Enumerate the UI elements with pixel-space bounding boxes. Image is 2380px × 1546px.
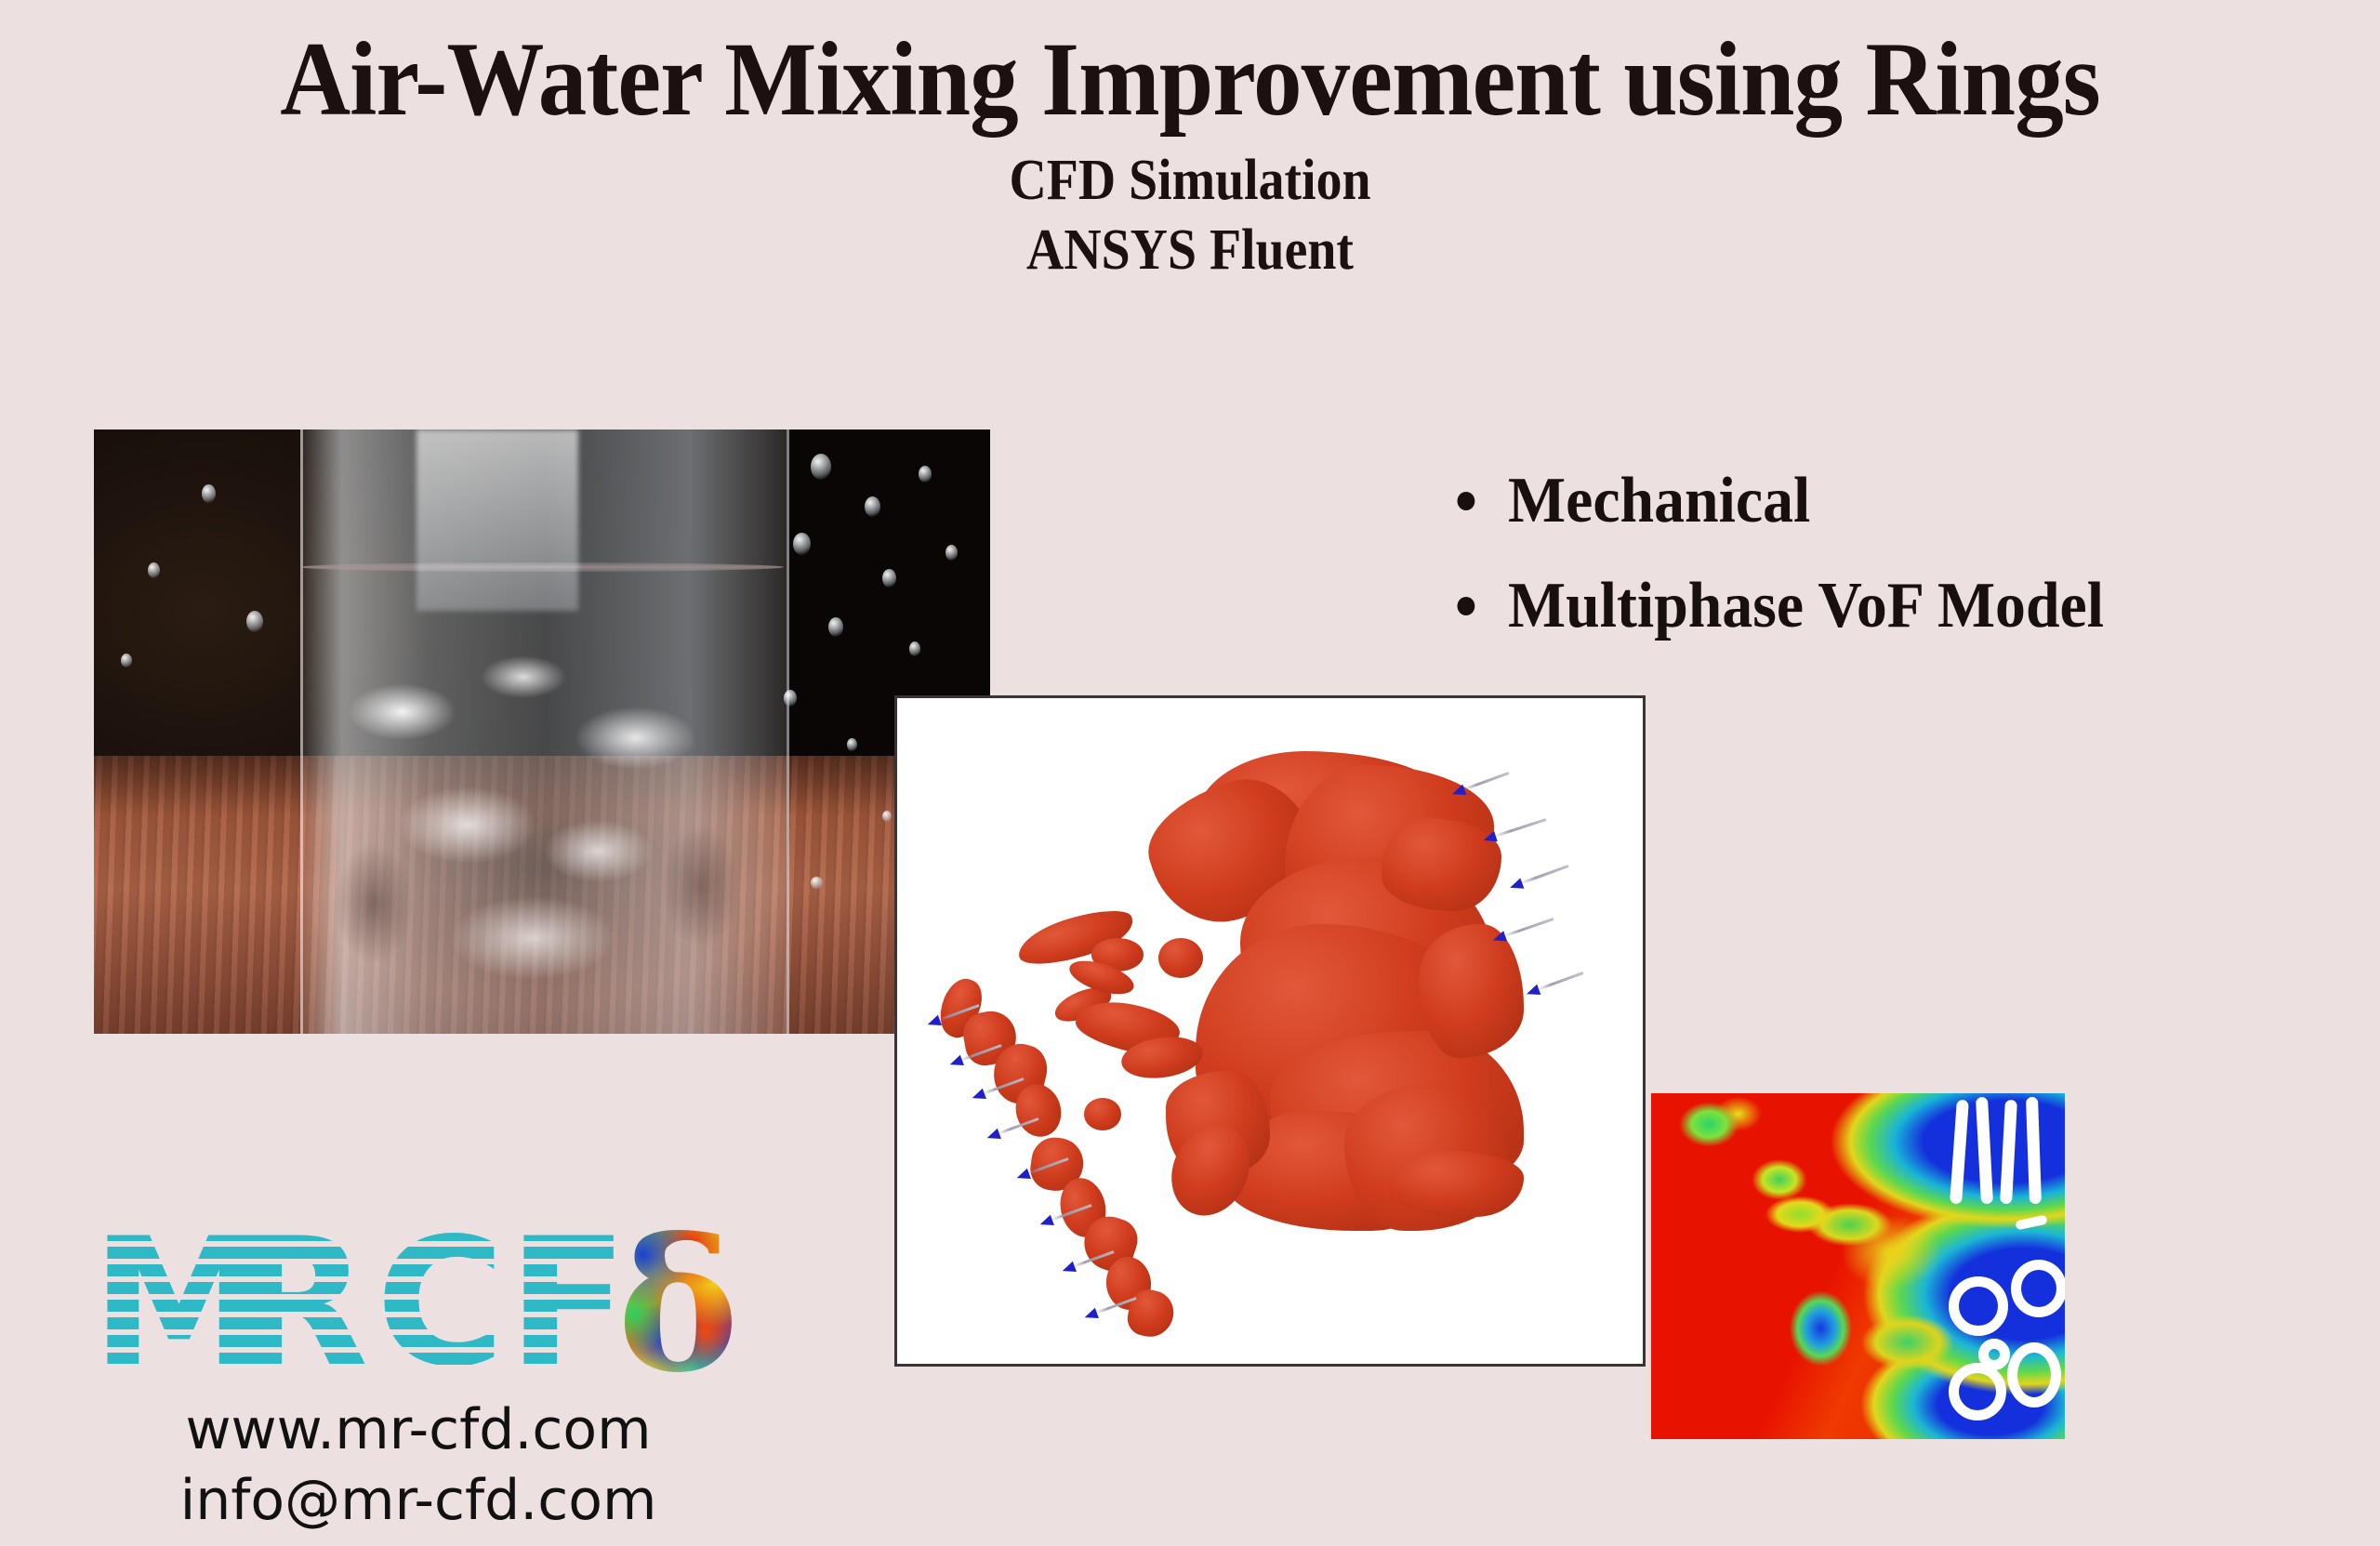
photo-droplet (882, 569, 896, 588)
velocity-arrow (1503, 918, 1554, 937)
vof-isosurface-render (897, 698, 1643, 1364)
subtitle-ansys-fluent: ANSYS Fluent (119, 218, 2261, 283)
photo-droplet (847, 738, 857, 751)
logo-delta-symbol: δ (617, 1223, 736, 1396)
subtitle-cfd-simulation: CFD Simulation (119, 149, 2261, 213)
velocity-arrow (1521, 865, 1569, 884)
ring-cross-section (1978, 1339, 2010, 1370)
velocity-arrow (1462, 772, 1509, 791)
logo-wordmark: M R C F δ (91, 1229, 733, 1383)
velocity-arrow (1494, 818, 1546, 838)
photo-droplet (919, 466, 932, 482)
isosurface-blob (1382, 818, 1501, 911)
email-link[interactable]: info@mr-cfd.com (112, 1465, 725, 1536)
title-block: Air-Water Mixing Improvement using Rings… (0, 24, 2380, 284)
photo-splash (309, 599, 774, 1034)
photo-droplet (865, 496, 880, 517)
photo-droplet (121, 654, 132, 667)
logo-letter-c: C (376, 1229, 505, 1378)
page-title: Air-Water Mixing Improvement using Rings (84, 24, 2297, 136)
logo-letter-f: F (508, 1229, 628, 1378)
velocity-arrow (1537, 971, 1583, 991)
mr-cfd-logo: M R C F δ www.mr-cfd.com info@mr-cfd.com (91, 1229, 742, 1526)
isosurface-blob (1419, 924, 1523, 1057)
logo-letter-r: R (232, 1229, 368, 1378)
isosurface-blob (1389, 1151, 1523, 1218)
bullet-item-mechanical: Mechanical (1450, 448, 2307, 553)
photo-droplet (909, 641, 920, 656)
volume-fraction-contour-panel (1651, 1093, 2065, 1439)
bullet-item-multiphase-vof-model: Multiphase VoF Model (1450, 553, 2307, 658)
photo-droplet (882, 811, 892, 822)
photo-droplet (148, 562, 160, 578)
vof-isosurface-panel (894, 695, 1646, 1367)
isosurface-fragment (1084, 1098, 1121, 1131)
presentation-slide: Air-Water Mixing Improvement using Rings… (0, 0, 2380, 1546)
photo-droplet (945, 545, 958, 561)
ring-cross-section (2011, 1260, 2065, 1317)
photo-droplet (793, 533, 811, 555)
photo-droplet (202, 484, 216, 503)
logo-contact-block: www.mr-cfd.com info@mr-cfd.com (112, 1394, 725, 1536)
website-link[interactable]: www.mr-cfd.com (112, 1394, 725, 1465)
ring-cross-section (2007, 1342, 2061, 1407)
photo-droplet (246, 611, 263, 632)
isosurface-fragment (1158, 938, 1203, 978)
photo-droplet (784, 690, 797, 707)
photo-pour-stream (416, 429, 578, 611)
feature-bullet-list: Mechanical Multiphase VoF Model (1450, 448, 2361, 659)
water-splash-photo (94, 429, 990, 1034)
